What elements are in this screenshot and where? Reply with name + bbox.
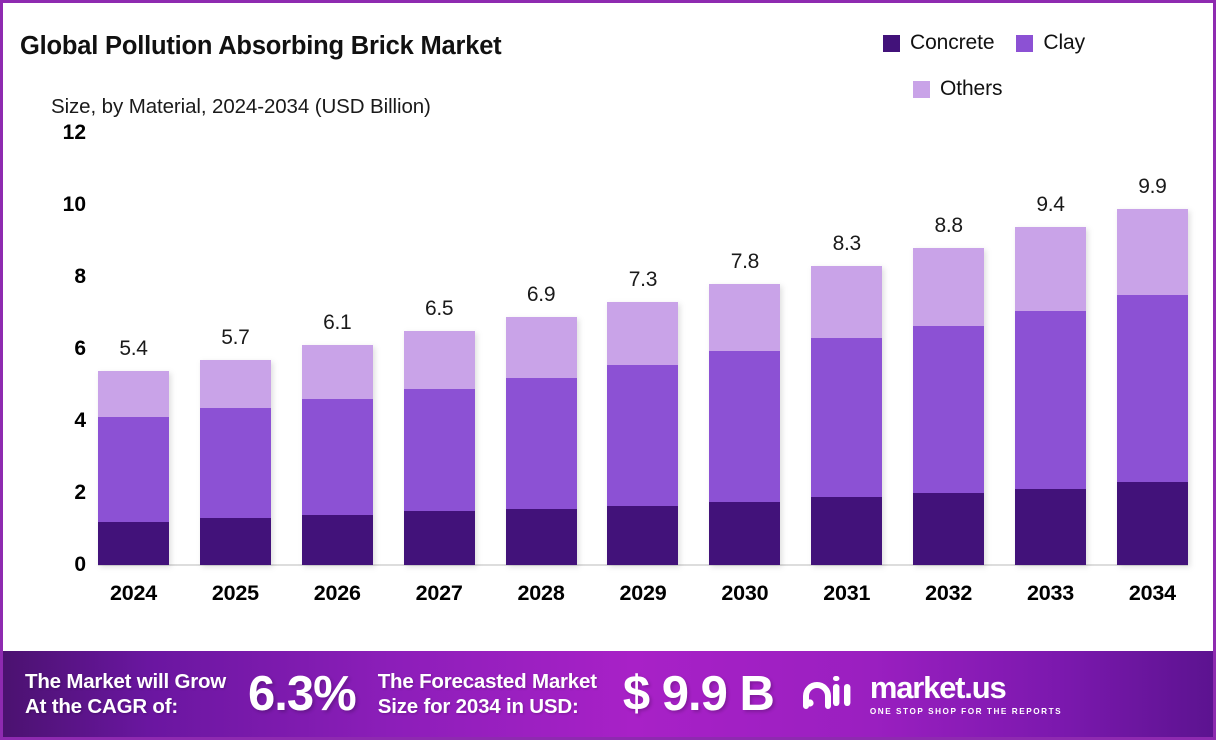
bar-segment-concrete[interactable] bbox=[709, 502, 780, 565]
cagr-caption-line1: The Market will Grow bbox=[25, 669, 226, 694]
bar-segment-clay[interactable] bbox=[1015, 311, 1086, 489]
x-axis-label-2024: 2024 bbox=[98, 581, 169, 606]
bar-stack[interactable] bbox=[1117, 209, 1188, 565]
legend-swatch-icon bbox=[883, 35, 900, 52]
y-axis-tick-12: 12 bbox=[46, 121, 86, 145]
chart-subtitle: Size, by Material, 2024-2034 (USD Billio… bbox=[51, 95, 431, 119]
bar-total-label: 6.1 bbox=[302, 311, 373, 335]
market-us-logo-icon bbox=[802, 672, 860, 717]
bar-stack[interactable] bbox=[709, 284, 780, 565]
bar-segment-clay[interactable] bbox=[1117, 295, 1188, 482]
page-title: Global Pollution Absorbing Brick Market bbox=[20, 32, 501, 61]
forecast-caption-line2: Size for 2034 in USD: bbox=[378, 694, 597, 719]
bar-segment-concrete[interactable] bbox=[302, 515, 373, 565]
x-axis-label-2030: 2030 bbox=[709, 581, 780, 606]
bar-segment-others[interactable] bbox=[200, 360, 271, 409]
bar-segment-clay[interactable] bbox=[607, 365, 678, 505]
bar-group-2027[interactable]: 6.5 bbox=[404, 133, 475, 565]
legend-item-concrete[interactable]: Concrete bbox=[883, 31, 994, 55]
bar-stack[interactable] bbox=[302, 345, 373, 565]
legend-label: Others bbox=[940, 77, 1002, 101]
x-axis-label-2031: 2031 bbox=[811, 581, 882, 606]
bar-group-2034[interactable]: 9.9 bbox=[1117, 133, 1188, 565]
bar-segment-concrete[interactable] bbox=[404, 511, 475, 565]
bar-segment-concrete[interactable] bbox=[506, 509, 577, 565]
summary-banner: The Market will Grow At the CAGR of: 6.3… bbox=[3, 651, 1213, 737]
bar-segment-clay[interactable] bbox=[404, 389, 475, 511]
bar-group-2029[interactable]: 7.3 bbox=[607, 133, 678, 565]
bar-total-label: 9.4 bbox=[1015, 193, 1086, 217]
bar-segment-clay[interactable] bbox=[913, 326, 984, 493]
cagr-caption: The Market will Grow At the CAGR of: bbox=[25, 669, 226, 719]
y-axis-tick-8: 8 bbox=[46, 265, 86, 289]
plot-area: 024681012 5.45.76.16.56.97.37.88.38.89.4… bbox=[98, 133, 1188, 565]
bar-stack[interactable] bbox=[1015, 227, 1086, 565]
y-axis-tick-2: 2 bbox=[46, 481, 86, 505]
forecast-caption-line1: The Forecasted Market bbox=[378, 669, 597, 694]
infographic-card: Global Pollution Absorbing Brick Market … bbox=[0, 0, 1216, 740]
bar-group-2028[interactable]: 6.9 bbox=[506, 133, 577, 565]
bar-segment-concrete[interactable] bbox=[913, 493, 984, 565]
legend-label: Clay bbox=[1043, 31, 1085, 55]
bar-series-container: 5.45.76.16.56.97.37.88.38.89.49.9 bbox=[98, 133, 1188, 565]
bar-total-label: 5.4 bbox=[98, 337, 169, 361]
market-us-logo[interactable]: market.us ONE STOP SHOP FOR THE REPORTS bbox=[802, 672, 1062, 717]
bar-stack[interactable] bbox=[200, 360, 271, 565]
bar-stack[interactable] bbox=[811, 266, 882, 565]
bar-segment-others[interactable] bbox=[98, 371, 169, 418]
logo-text: market.us ONE STOP SHOP FOR THE REPORTS bbox=[870, 672, 1062, 716]
x-axis-label-2029: 2029 bbox=[607, 581, 678, 606]
bar-total-label: 6.5 bbox=[404, 297, 475, 321]
bar-group-2032[interactable]: 8.8 bbox=[913, 133, 984, 565]
bar-stack[interactable] bbox=[506, 317, 577, 565]
x-axis-label-2027: 2027 bbox=[404, 581, 475, 606]
y-axis-tick-10: 10 bbox=[46, 193, 86, 217]
bar-segment-concrete[interactable] bbox=[98, 522, 169, 565]
x-axis-labels: 2024202520262027202820292030203120322033… bbox=[98, 581, 1188, 606]
bar-group-2026[interactable]: 6.1 bbox=[302, 133, 373, 565]
bar-segment-clay[interactable] bbox=[709, 351, 780, 502]
bar-segment-others[interactable] bbox=[1117, 209, 1188, 295]
legend-label: Concrete bbox=[910, 31, 994, 55]
bar-segment-others[interactable] bbox=[506, 317, 577, 378]
bar-segment-clay[interactable] bbox=[302, 399, 373, 514]
x-axis-label-2033: 2033 bbox=[1015, 581, 1086, 606]
legend-swatch-icon bbox=[1016, 35, 1033, 52]
legend-swatch-icon bbox=[913, 81, 930, 98]
bar-segment-concrete[interactable] bbox=[1015, 489, 1086, 565]
bar-stack[interactable] bbox=[607, 302, 678, 565]
x-axis-label-2026: 2026 bbox=[302, 581, 373, 606]
bar-segment-concrete[interactable] bbox=[607, 506, 678, 565]
bar-group-2033[interactable]: 9.4 bbox=[1015, 133, 1086, 565]
bar-segment-clay[interactable] bbox=[98, 417, 169, 521]
bar-segment-others[interactable] bbox=[607, 302, 678, 365]
bar-total-label: 9.9 bbox=[1117, 175, 1188, 199]
logo-tagline: ONE STOP SHOP FOR THE REPORTS bbox=[870, 707, 1062, 716]
bar-stack[interactable] bbox=[913, 248, 984, 565]
chart-legend: ConcreteClayOthers bbox=[883, 31, 1209, 123]
logo-wordmark: market.us bbox=[870, 672, 1062, 703]
bar-stack[interactable] bbox=[98, 371, 169, 565]
bar-segment-others[interactable] bbox=[1015, 227, 1086, 312]
cagr-value: 6.3% bbox=[248, 666, 356, 722]
bar-group-2030[interactable]: 7.8 bbox=[709, 133, 780, 565]
y-axis-tick-6: 6 bbox=[46, 337, 86, 361]
y-axis-tick-4: 4 bbox=[46, 409, 86, 433]
bar-total-label: 7.3 bbox=[607, 268, 678, 292]
bar-segment-others[interactable] bbox=[811, 266, 882, 338]
legend-item-clay[interactable]: Clay bbox=[1016, 31, 1085, 55]
bar-group-2024[interactable]: 5.4 bbox=[98, 133, 169, 565]
bar-group-2025[interactable]: 5.7 bbox=[200, 133, 271, 565]
bar-segment-others[interactable] bbox=[302, 345, 373, 399]
bar-segment-concrete[interactable] bbox=[1117, 482, 1188, 565]
x-axis-label-2025: 2025 bbox=[200, 581, 271, 606]
forecast-caption: The Forecasted Market Size for 2034 in U… bbox=[378, 669, 597, 719]
x-axis-label-2034: 2034 bbox=[1117, 581, 1188, 606]
cagr-caption-line2: At the CAGR of: bbox=[25, 694, 226, 719]
x-axis-label-2028: 2028 bbox=[506, 581, 577, 606]
bar-total-label: 5.7 bbox=[200, 326, 271, 350]
bar-segment-clay[interactable] bbox=[811, 338, 882, 496]
x-axis-label-2032: 2032 bbox=[913, 581, 984, 606]
bar-segment-others[interactable] bbox=[404, 331, 475, 389]
bar-segment-others[interactable] bbox=[709, 284, 780, 351]
bar-segment-clay[interactable] bbox=[200, 408, 271, 518]
bar-total-label: 6.9 bbox=[506, 283, 577, 307]
bar-stack[interactable] bbox=[404, 331, 475, 565]
y-axis-tick-0: 0 bbox=[46, 553, 86, 577]
bar-total-label: 7.8 bbox=[709, 250, 780, 274]
bar-total-label: 8.8 bbox=[913, 214, 984, 238]
legend-item-others[interactable]: Others bbox=[913, 77, 1187, 101]
bar-segment-concrete[interactable] bbox=[200, 518, 271, 565]
bar-segment-concrete[interactable] bbox=[811, 497, 882, 565]
bar-segment-others[interactable] bbox=[913, 248, 984, 325]
bar-total-label: 8.3 bbox=[811, 232, 882, 256]
bar-group-2031[interactable]: 8.3 bbox=[811, 133, 882, 565]
forecast-value: $ 9.9 B bbox=[623, 666, 774, 722]
bar-segment-clay[interactable] bbox=[506, 378, 577, 509]
